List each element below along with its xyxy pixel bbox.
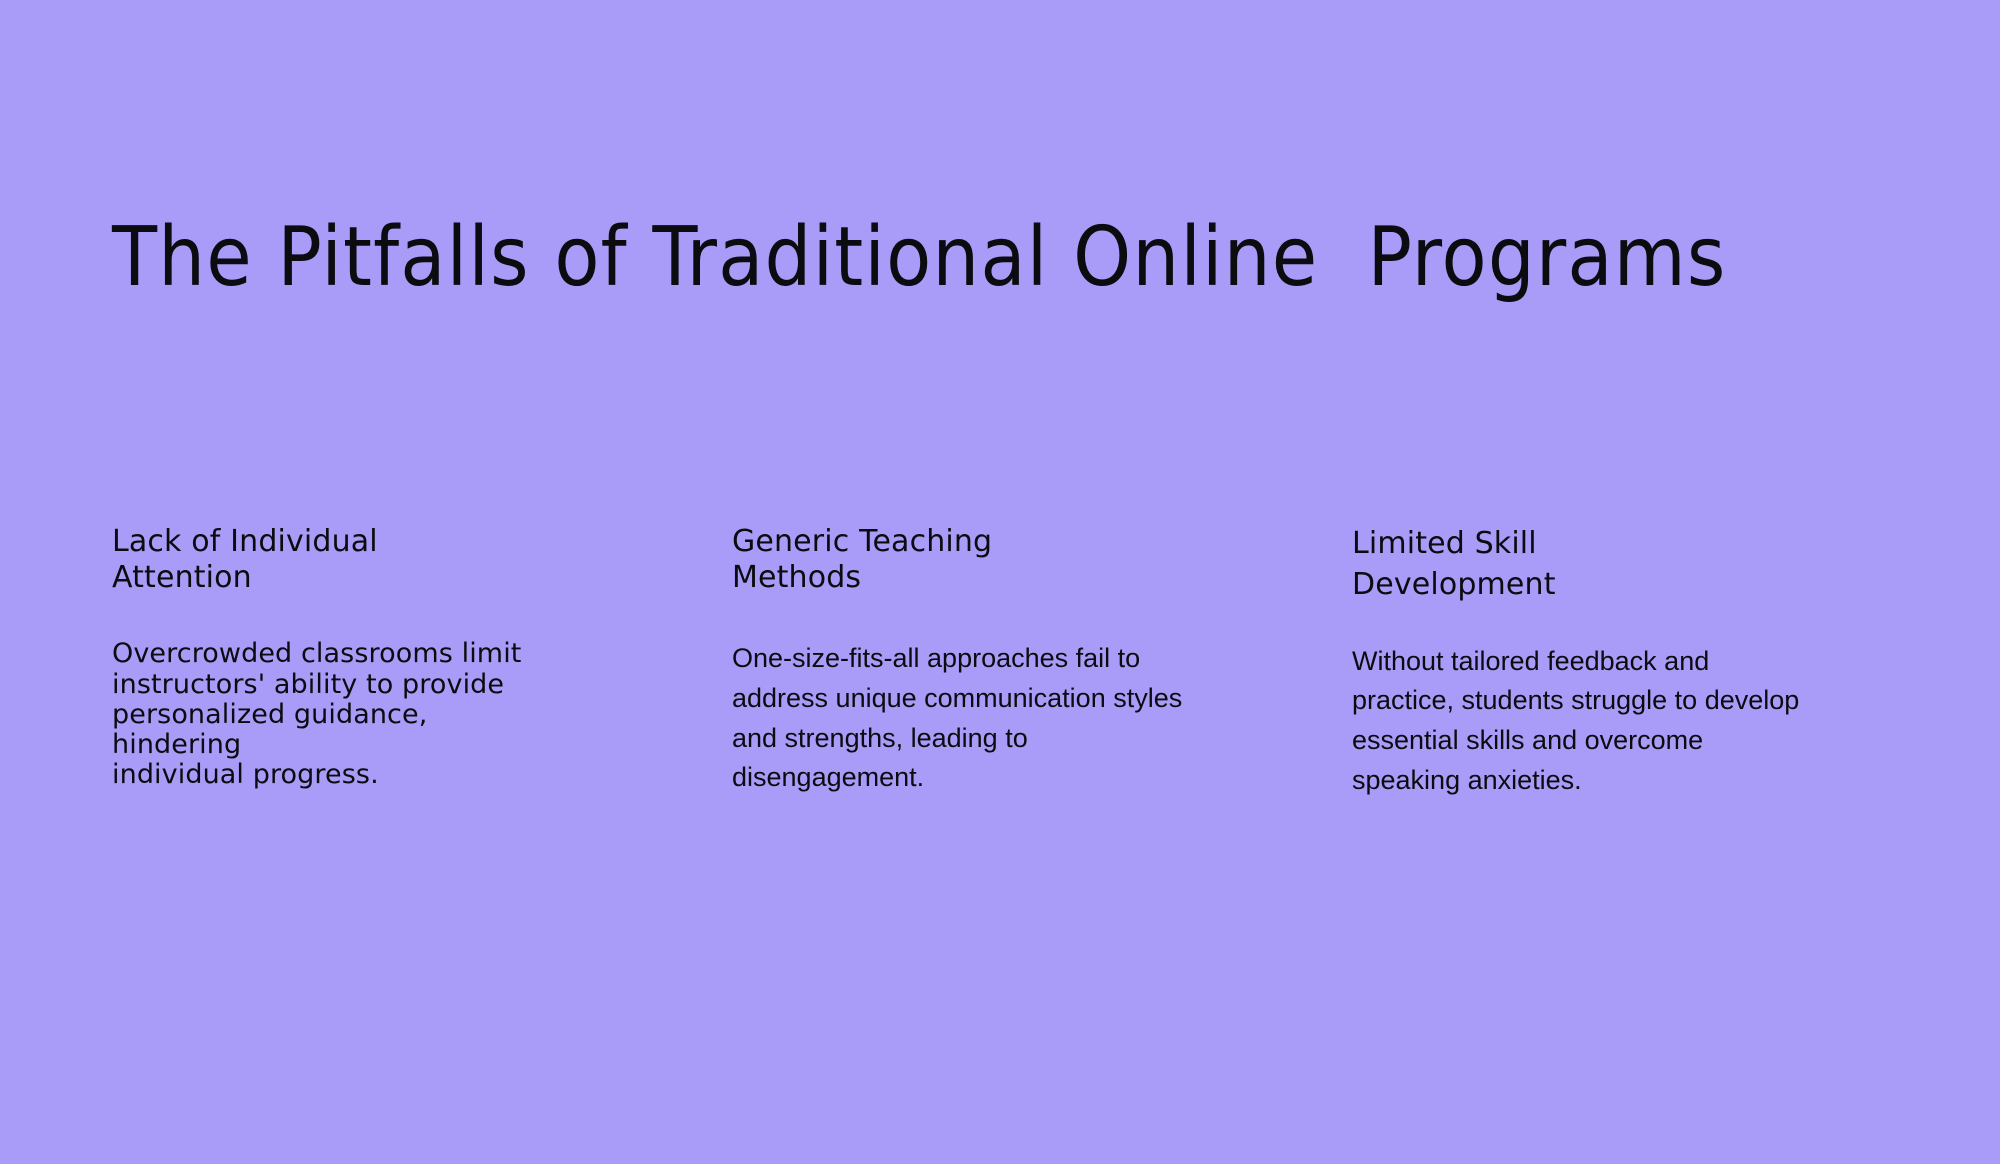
page-title: The Pitfalls of Traditional Online Progr… (112, 215, 1932, 300)
content-columns: Lack of Individual Attention Overcrowded… (0, 524, 2000, 944)
column-body-text: Overcrowded classrooms limit instructors… (112, 639, 672, 790)
presentation-slide: The Pitfalls of Traditional Online Progr… (0, 0, 2000, 1164)
column-heading: Limited Skill Development (1352, 524, 1932, 606)
column-body-text: One-size-fits-all approaches fail to add… (732, 639, 1292, 798)
content-column-generic-teaching-methods: Generic Teaching Methods One-size-fits-a… (732, 524, 1292, 798)
column-body-text: Without tailored feedback and practice, … (1352, 642, 1932, 801)
content-column-limited-skill-development: Limited Skill Development Without tailor… (1352, 524, 1932, 800)
column-heading: Lack of Individual Attention (112, 524, 672, 595)
column-heading: Generic Teaching Methods (732, 524, 1292, 595)
content-column-lack-of-individual-attention: Lack of Individual Attention Overcrowded… (112, 524, 672, 791)
